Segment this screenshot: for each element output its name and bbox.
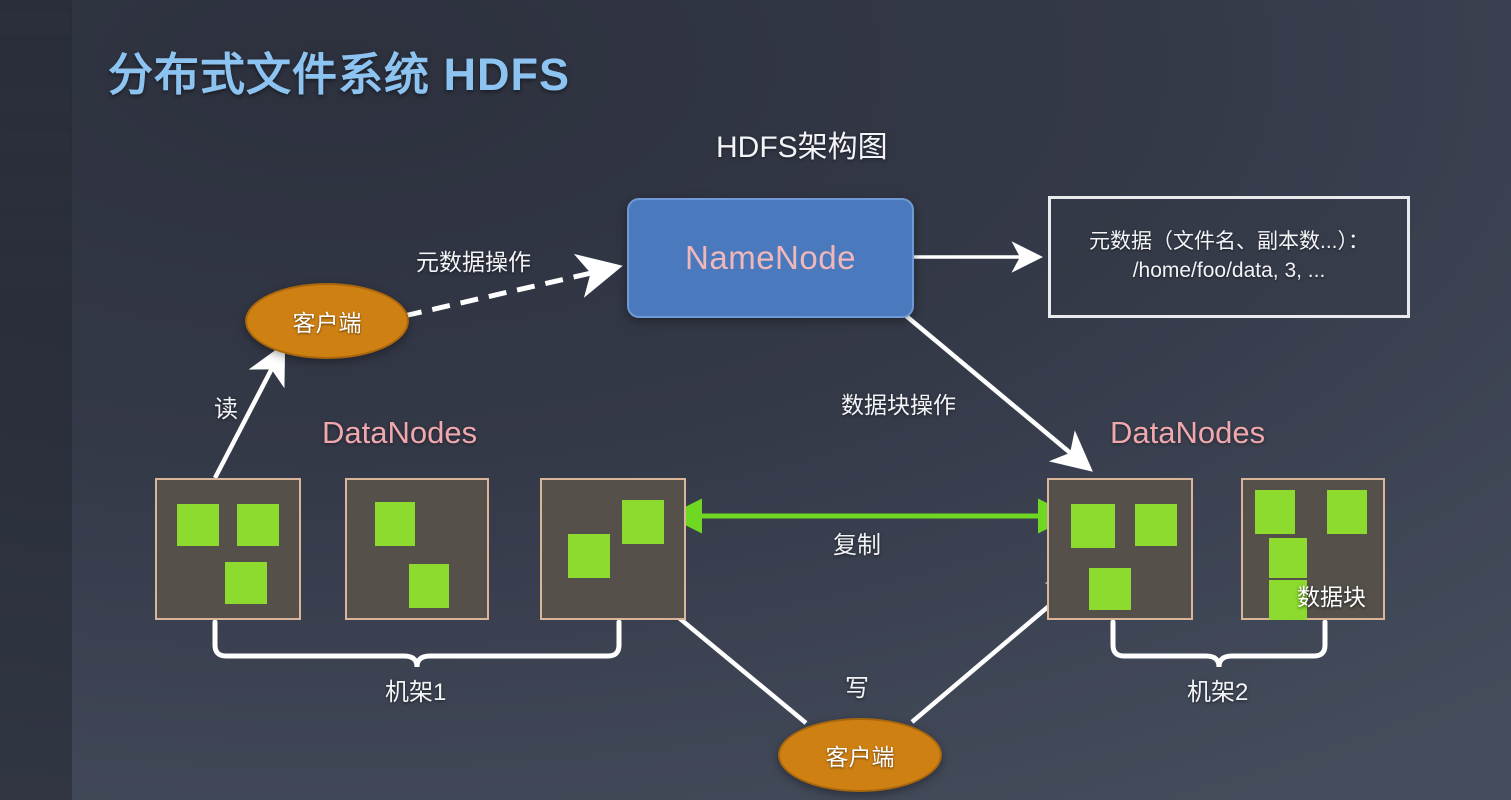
client-bottom-label: 客户端 [826,738,895,772]
datanode-3[interactable] [540,478,686,620]
slide-canvas: NameNode : dashed metadata operation -->… [0,0,1511,800]
sidebar-thumbnail-2[interactable] [0,88,70,112]
datanode-3-block-1 [622,500,664,544]
datanode-5-block-2 [1327,490,1367,534]
datanode-4-block-1 [1071,504,1115,548]
datanode-2-block-2 [409,564,449,608]
edge-label-block-operation: 数据块操作 [841,386,956,420]
datanodes-title-left: DataNodes [322,415,477,451]
sidebar-thumbnail-4[interactable] [0,178,70,202]
datanode-4-block-3 [1089,568,1131,610]
edge-label-replicate: 复制 [833,525,881,560]
datanode-2-block-1 [375,502,415,546]
rack1-label: 机架1 [385,672,446,707]
metadata-line-1: 元数据（文件名、副本数...）： [1089,228,1369,257]
client-top-label: 客户端 [293,304,362,338]
datanodes-title-right: DataNodes [1110,415,1265,451]
namenode-label: NameNode [685,239,856,277]
datanode-4[interactable] [1047,478,1193,620]
datanode-5-block-1 [1255,490,1295,534]
datanode-1[interactable] [155,478,301,620]
edge-label-read: 读 [214,389,238,424]
rack2-brace [1113,622,1325,667]
page-title: 分布式文件系统 HDFS [108,38,570,103]
datanode-3-block-2 [568,534,610,578]
datanode-1-block-1 [177,504,219,546]
datanode-1-block-3 [225,562,267,604]
datanode-4-block-2 [1135,504,1177,546]
datanode-2[interactable] [345,478,489,620]
edge-label-metadata-operation: 元数据操作 [416,243,531,277]
edge-label-write: 写 [845,668,869,703]
metadata-box: 元数据（文件名、副本数...）： /home/foo/data, 3, ... [1048,196,1410,318]
datanode-1-block-2 [237,504,279,546]
data-block-label: 数据块 [1297,578,1366,612]
rack2-label: 机架2 [1187,672,1248,707]
rack1-brace [215,622,619,667]
metadata-line-2: /home/foo/data, 3, ... [1133,257,1326,286]
sidebar-thumbnail-6[interactable] [0,258,70,282]
client-node-top[interactable]: 客户端 [245,283,409,359]
datanode-5-block-3 [1269,538,1307,578]
diagram-subtitle: HDFS架构图 [716,122,888,166]
sidebar-thumbnail-5[interactable] [0,218,70,240]
sidebar-thumbnail-3[interactable] [0,130,70,152]
sidebar-thumbnail-1[interactable] [0,10,70,36]
client-node-bottom[interactable]: 客户端 [778,718,942,792]
namenode-box[interactable]: NameNode [627,198,914,318]
